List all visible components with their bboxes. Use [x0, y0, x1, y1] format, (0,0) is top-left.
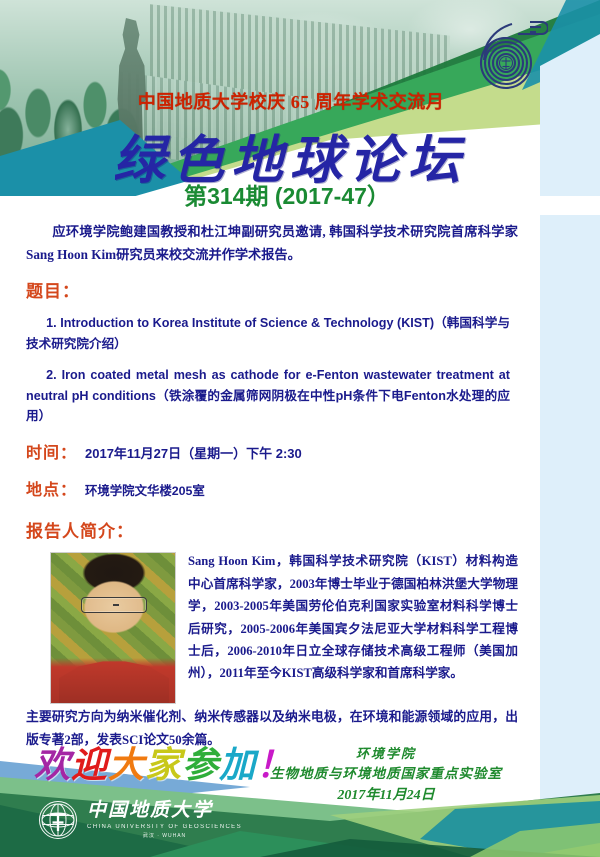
university-seal-icon	[38, 800, 78, 840]
welcome-char: 家	[145, 736, 182, 788]
anniversary-subtitle: 中国地质大学校庆 65 周年学术交流月	[0, 88, 600, 114]
welcome-char: 大	[108, 736, 145, 788]
bio-label: 报告人简介：	[0, 517, 540, 542]
signature-block: 环境学院 生物地质与环境地质国家重点实验室 2017年11月24日	[236, 744, 536, 806]
time-label: 时间：	[26, 439, 77, 463]
signature-line-2: 生物地质与环境地质国家重点实验室	[236, 764, 536, 784]
topics-label: 题目：	[0, 277, 540, 302]
place-value: 环境学院文华楼205室	[85, 481, 205, 499]
speaker-glasses-icon	[81, 597, 147, 613]
signature-date: 2017年11月24日	[236, 785, 536, 806]
welcome-char: 迎	[71, 736, 108, 788]
time-value: 2017年11月27日（星期一）下午 2:30	[85, 443, 302, 462]
intro-paragraph: 应环境学院鲍建国教授和杜江坤副研究员邀请, 韩国科学技术研究院首席科学家Sang…	[0, 215, 540, 266]
time-row: 时间： 2017年11月27日（星期一）下午 2:30	[0, 439, 540, 463]
university-city: 武汉 · WUHAN	[87, 832, 242, 839]
poster-header: 中国地质大学校庆 65 周年学术交流月 绿色地球论坛 第314期 (2017-4…	[0, 0, 600, 215]
university-name-cn: 中国地质大学	[87, 801, 242, 821]
bio-block: Sang Hoon Kim，韩国科学技术研究院（KIST）材料构造中心首席科学家…	[0, 550, 540, 684]
topic-item-2: 2. Iron coated metal mesh as cathode for…	[0, 365, 540, 426]
anniversary-65-icon	[472, 16, 548, 94]
topic-item-1: 1. Introduction to Korea Institute of Sc…	[0, 313, 540, 354]
signature-line-1: 环境学院	[236, 744, 536, 764]
university-name-block: 中国地质大学 CHINA UNIVERSITY OF GEOSCIENCES 武…	[87, 801, 242, 839]
university-logo: 中国地质大学 CHINA UNIVERSITY OF GEOSCIENCES 武…	[38, 800, 242, 840]
place-row: 地点： 环境学院文华楼205室	[0, 476, 540, 500]
issue-number: 第314期 (2017-47）	[0, 177, 600, 211]
university-name-en: CHINA UNIVERSITY OF GEOSCIENCES	[87, 824, 242, 830]
speaker-photo	[50, 552, 176, 704]
welcome-char: 参	[182, 736, 219, 788]
speaker-shirt	[59, 661, 169, 703]
poster-canvas: 中国地质大学校庆 65 周年学术交流月 绿色地球论坛 第314期 (2017-4…	[0, 0, 600, 857]
place-label: 地点：	[26, 476, 77, 500]
welcome-char: 欢	[34, 736, 71, 788]
poster-body: 应环境学院鲍建国教授和杜江坤副研究员邀请, 韩国科学技术研究院首席科学家Sang…	[0, 215, 540, 735]
